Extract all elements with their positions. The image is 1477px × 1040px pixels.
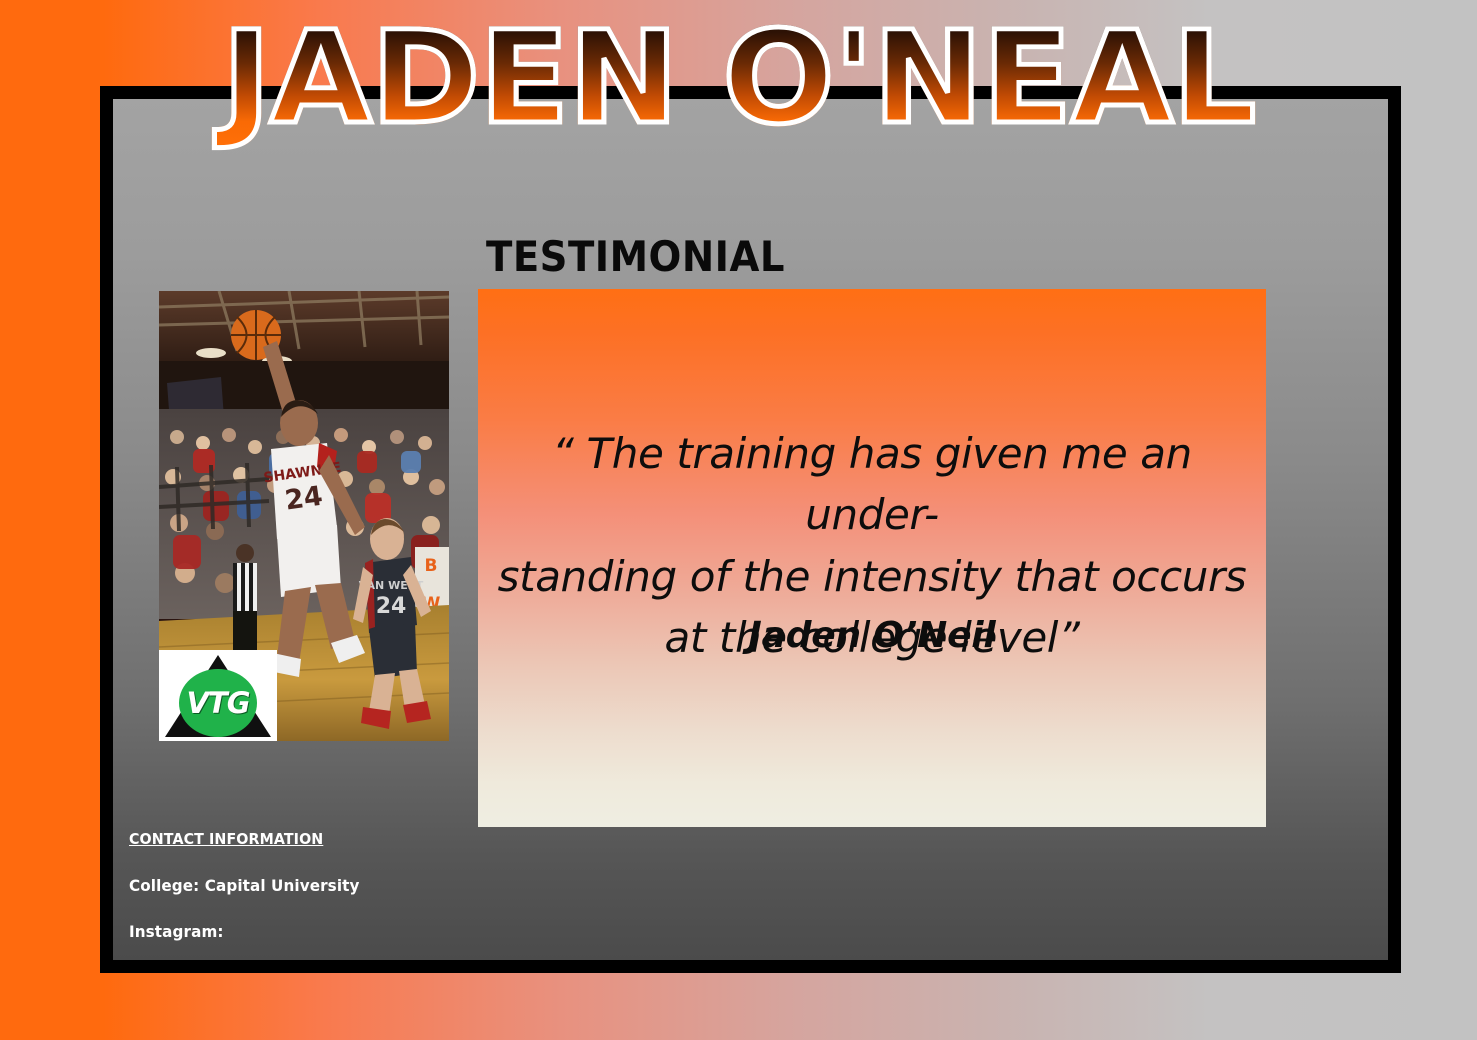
- vtg-logo-text: VTG: [159, 686, 277, 720]
- testimonial-attribution: Jaden O’Neil: [490, 615, 1254, 656]
- contact-line-college: College: Capital University: [129, 876, 360, 895]
- svg-text:24: 24: [376, 594, 407, 619]
- svg-text:24: 24: [283, 481, 325, 517]
- contact-information-heading: CONTACT INFORMATION: [129, 830, 360, 848]
- contact-information-block: CONTACT INFORMATION College: Capital Uni…: [129, 830, 372, 968]
- poster-canvas: B W: [0, 0, 1477, 1040]
- svg-text:B: B: [425, 556, 438, 576]
- quote-line-2: standing of the intensity that occurs: [498, 552, 1247, 601]
- contact-line-instagram: Instagram:: [129, 922, 360, 941]
- testimonial-box: “ The training has given me an under- st…: [478, 289, 1266, 827]
- vtg-logo: VTG: [159, 650, 277, 741]
- testimonial-heading: TESTIMONIAL: [486, 232, 785, 281]
- quote-line-1: “ The training has given me an under-: [552, 429, 1192, 539]
- page-title: JADEN O'NEAL: [0, 14, 1477, 145]
